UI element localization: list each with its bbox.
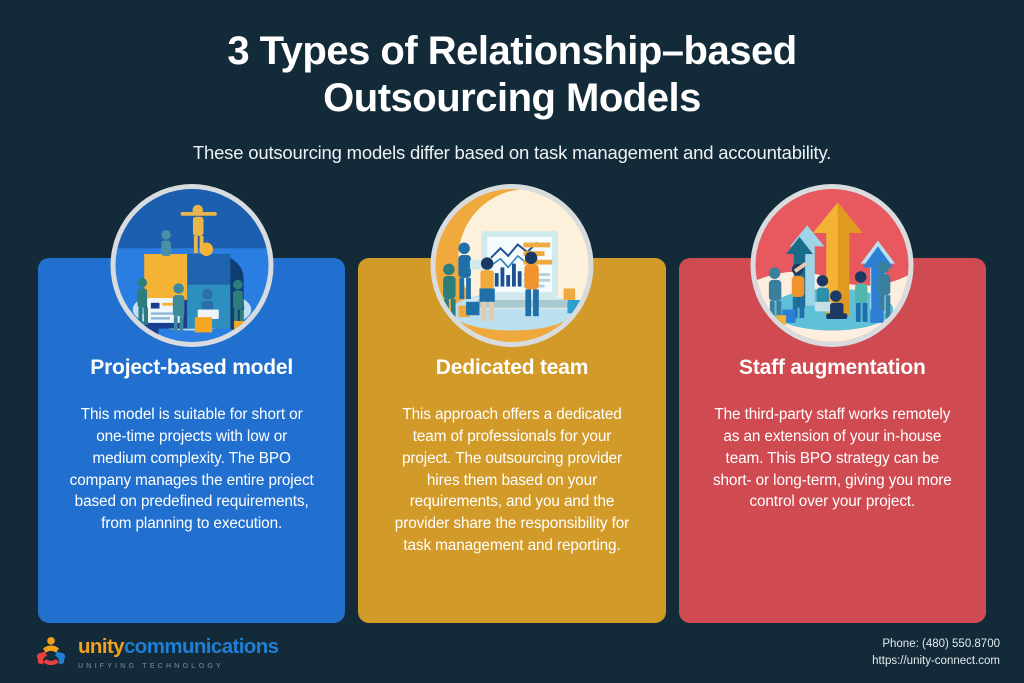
card-project-based-model[interactable]: Project-based model This model is suitab… (38, 258, 345, 623)
page-subtitle: These outsourcing models differ based on… (0, 142, 1024, 164)
puzzle-pieces-teamwork-illustration (115, 189, 268, 342)
illustration-circle-project-based (110, 184, 273, 347)
page-title: 3 Types of Relationship–based Outsourcin… (0, 28, 1024, 122)
header: 3 Types of Relationship–based Outsourcin… (0, 0, 1024, 164)
card-title: Staff augmentation (695, 356, 970, 380)
card-staff-augmentation[interactable]: Staff augmentation The third-party staff… (679, 258, 986, 623)
card-title: Dedicated team (374, 356, 649, 380)
logo-word-unity: unity (78, 635, 124, 658)
card-title: Project-based model (54, 356, 329, 380)
page-title-line-1: 3 Types of Relationship–based (120, 28, 904, 75)
page-title-line-2: Outsourcing Models (120, 75, 904, 122)
contact-website[interactable]: https://unity-connect.com (872, 653, 1000, 670)
illustration-circle-staff-augmentation (751, 184, 914, 347)
contact-phone[interactable]: Phone: (480) 550.8700 (872, 636, 1000, 653)
model-cards-row: Project-based model This model is suitab… (38, 258, 986, 623)
illustration-circle-dedicated-team (430, 184, 593, 347)
card-body: The third-party staff works remotely as … (695, 404, 970, 513)
company-logo[interactable]: unitycommunications UNIFYING TECHNOLOGY (33, 635, 278, 671)
three-people-unity-logo-icon (33, 635, 69, 671)
laptop-data-analytics-team-illustration (435, 189, 588, 342)
growth-arrows-team-illustration (756, 189, 909, 342)
logo-tagline: UNIFYING TECHNOLOGY (78, 662, 278, 669)
card-body: This approach offers a dedicated team of… (374, 404, 649, 557)
logo-word-communications: communications (124, 635, 279, 658)
footer: unitycommunications UNIFYING TECHNOLOGY … (0, 623, 1024, 683)
card-dedicated-team[interactable]: Dedicated team This approach offers a de… (358, 258, 665, 623)
card-body: This model is suitable for short or one-… (54, 404, 329, 535)
contact-info: Phone: (480) 550.8700 https://unity-conn… (872, 636, 1000, 671)
